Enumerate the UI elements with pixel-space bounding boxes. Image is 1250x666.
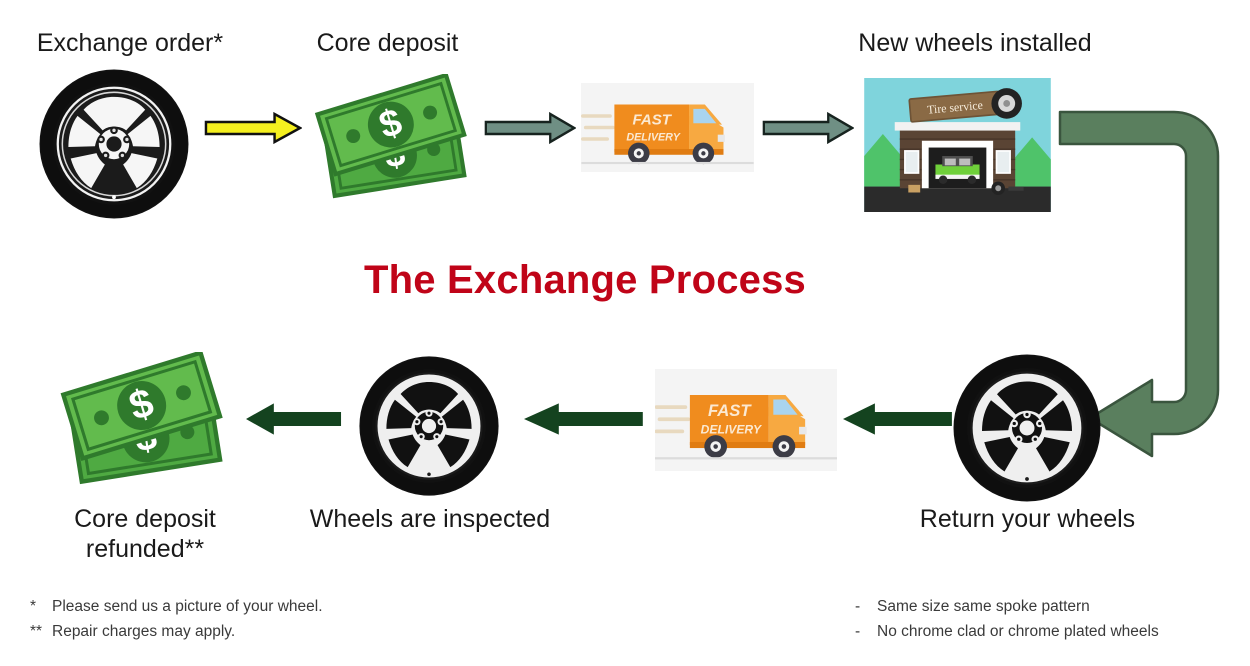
footnotes-right: -Same size same spoke pattern -No chrome…	[855, 594, 1250, 644]
arrow-order-to-deposit	[204, 112, 302, 144]
step-label-new-wheels-installed: New wheels installed	[790, 28, 1160, 58]
alloy-wheel-silver-icon-inspected	[358, 355, 500, 497]
arrow-truck-to-inspect	[524, 403, 644, 435]
exchange-process-diagram: Exchange order* Core deposit New wheels …	[0, 0, 1250, 666]
step-label-core-deposit-refunded: Core deposit refunded**	[20, 504, 270, 564]
step-label-exchange-order: Exchange order*	[0, 28, 260, 58]
footnote-text: No chrome clad or chrome plated wheels	[877, 623, 1159, 640]
page-title: The Exchange Process	[285, 258, 885, 303]
footnote-left-item: *Please send us a picture of your wheel.	[30, 594, 450, 619]
arrow-deposit-to-truck	[484, 112, 576, 144]
arrow-inspect-to-refund	[246, 403, 342, 435]
step-label-return-your-wheels: Return your wheels	[895, 504, 1160, 534]
alloy-wheel-silver-icon-return	[952, 353, 1102, 503]
svg-text:DELIVERY: DELIVERY	[701, 423, 762, 437]
fast-delivery-truck-icon-return: FAST DELIVERY	[655, 369, 837, 471]
footnote-mark: -	[855, 594, 877, 619]
footnote-right-item: -No chrome clad or chrome plated wheels	[855, 619, 1250, 644]
footnote-text: Same size same spoke pattern	[877, 598, 1090, 615]
arrow-return-to-truck	[843, 403, 953, 435]
footnote-text: Please send us a picture of your wheel.	[52, 598, 323, 615]
footnote-text: Repair charges may apply.	[52, 623, 235, 640]
svg-text:FAST: FAST	[708, 401, 752, 420]
cash-banknotes-icon-bottom: $ $	[54, 352, 236, 492]
tire-service-shop-icon: Tire service	[864, 78, 1051, 212]
footnote-right-item: -Same size same spoke pattern	[855, 594, 1250, 619]
alloy-wheel-dark-icon	[38, 68, 190, 220]
cash-banknotes-icon-top: $ $	[312, 74, 476, 206]
footnote-mark: **	[30, 619, 52, 644]
footnote-mark: *	[30, 594, 52, 619]
footnotes-left: *Please send us a picture of your wheel.…	[30, 594, 450, 644]
svg-text:FAST: FAST	[632, 112, 672, 129]
arrow-truck-to-shop	[762, 112, 854, 144]
footnote-left-item: **Repair charges may apply.	[30, 619, 450, 644]
svg-text:DELIVERY: DELIVERY	[626, 131, 680, 143]
footnote-mark: -	[855, 619, 877, 644]
fast-delivery-truck-icon-outbound: FAST DELIVERY	[581, 83, 754, 172]
step-label-core-deposit: Core deposit	[275, 28, 500, 58]
step-label-wheels-inspected: Wheels are inspected	[290, 504, 570, 534]
